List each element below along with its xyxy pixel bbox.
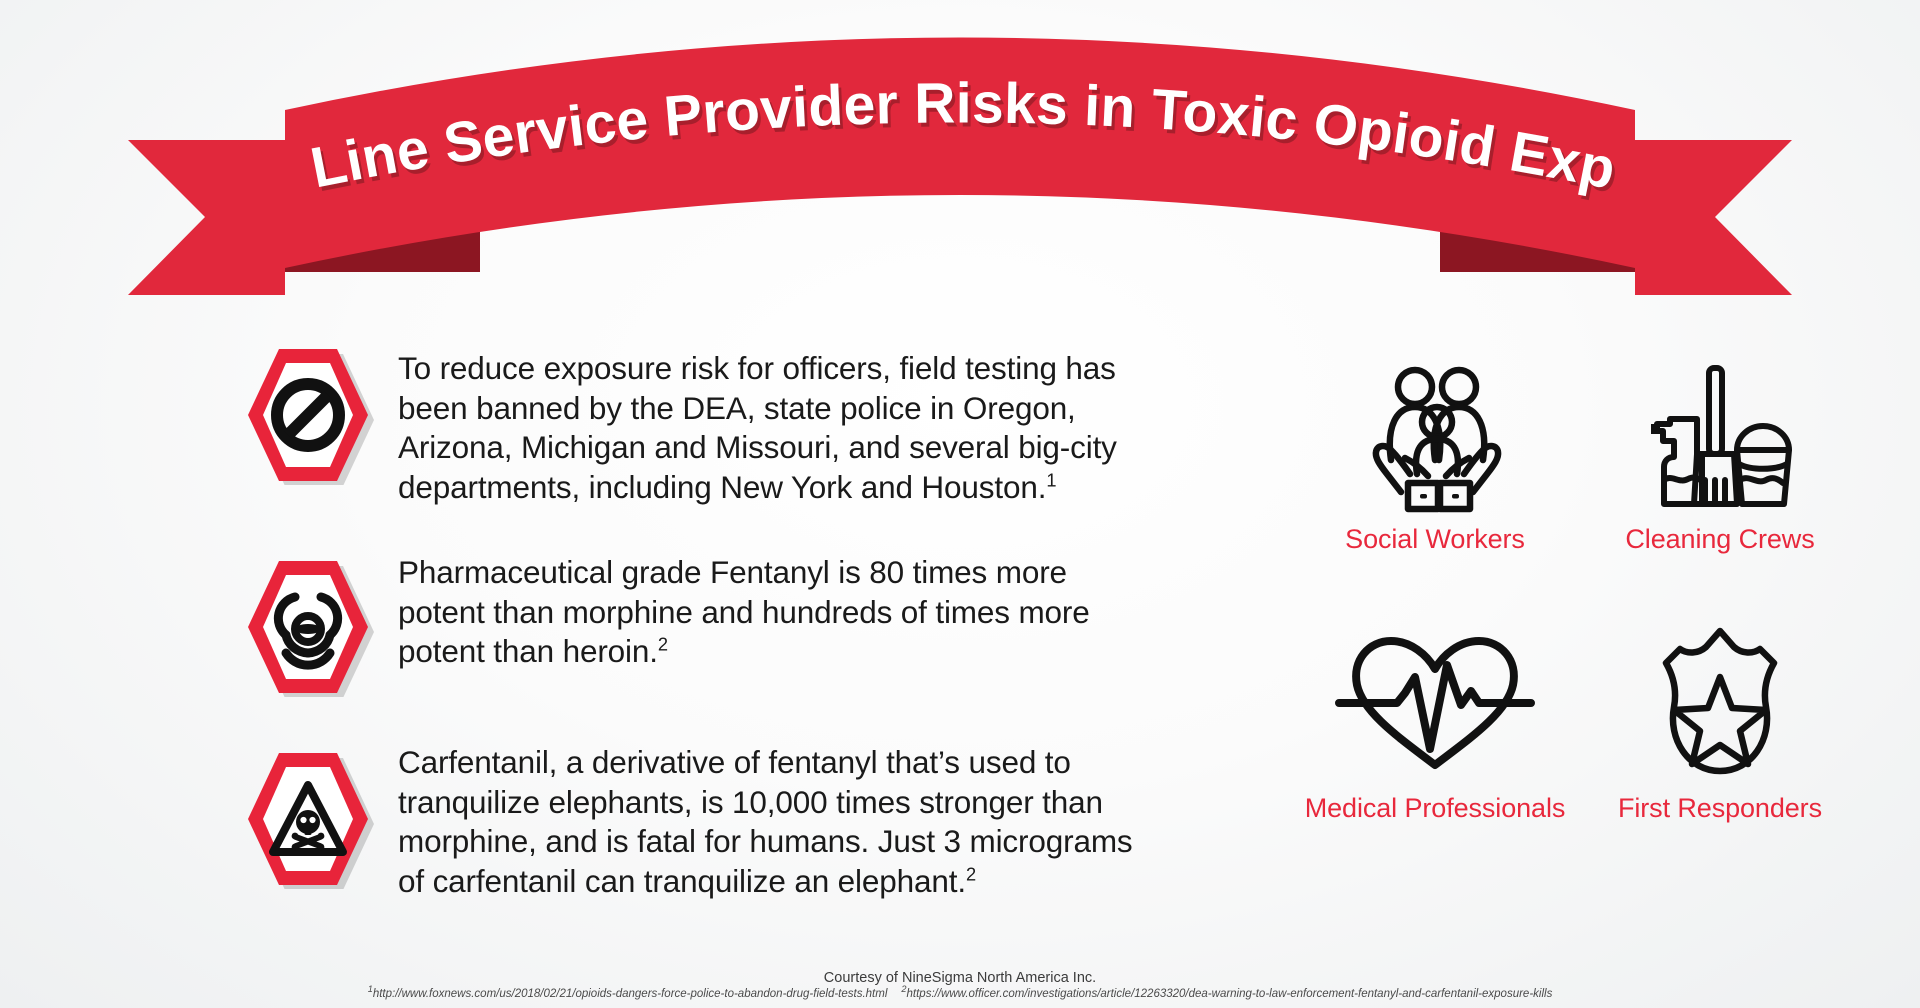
- toxic-warning-icon: [238, 747, 378, 889]
- fact-text: Carfentanil, a derivative of fentanyl th…: [390, 733, 1138, 901]
- banner-right-tail: [1635, 140, 1792, 295]
- facts-column: To reduce exposure risk for officers, fi…: [225, 345, 1185, 937]
- role-icon-cell: [1335, 627, 1535, 777]
- heart-pulse-icon: [1335, 627, 1535, 777]
- fact-icon-cell: [225, 339, 390, 485]
- source-2-url[interactable]: https://www.officer.com/investigations/a…: [907, 988, 1553, 1000]
- fact-item: To reduce exposure risk for officers, fi…: [225, 339, 1185, 507]
- hands-holding-family-icon: [1353, 364, 1518, 514]
- banner-graphic: Front Line Service Provider Risks in Tox…: [0, 0, 1920, 300]
- police-badge-shield-icon: [1650, 625, 1790, 777]
- fact-item: Pharmaceutical grade Fentanyl is 80 time…: [225, 543, 1185, 697]
- biohazard-icon: [238, 555, 378, 697]
- role-icon-cell: [1650, 627, 1790, 777]
- role-item-cleaning-crews: Cleaning Crews: [1580, 355, 1860, 555]
- fact-footnote-marker: 2: [658, 634, 668, 655]
- role-label: First Responders: [1618, 793, 1822, 824]
- courtesy-line: Courtesy of NineSigma North America Inc.: [0, 970, 1920, 986]
- role-label: Cleaning Crews: [1625, 524, 1814, 555]
- fact-body: Carfentanil, a derivative of fentanyl th…: [398, 744, 1133, 899]
- role-icon-cell: [1645, 355, 1795, 514]
- banner-left-tail: [128, 140, 285, 295]
- banner-header: Front Line Service Provider Risks in Tox…: [0, 0, 1920, 300]
- no-field-testing-icon: [238, 343, 378, 485]
- cleaning-supplies-icon: [1645, 362, 1795, 514]
- fact-icon-cell: [225, 543, 390, 697]
- role-item-social-workers: Social Workers: [1290, 355, 1580, 555]
- footer: Courtesy of NineSigma North America Inc.…: [0, 970, 1920, 1000]
- role-label: Social Workers: [1345, 524, 1525, 555]
- fact-icon-cell: [225, 733, 390, 889]
- fact-footnote-marker: 2: [966, 863, 976, 884]
- roles-grid: Social Workers: [1290, 355, 1860, 827]
- role-icon-cell: [1353, 355, 1518, 514]
- fact-footnote-marker: 1: [1046, 469, 1056, 490]
- fact-text: Pharmaceutical grade Fentanyl is 80 time…: [390, 543, 1138, 672]
- fact-body: Pharmaceutical grade Fentanyl is 80 time…: [398, 554, 1090, 669]
- fact-text: To reduce exposure risk for officers, fi…: [390, 339, 1138, 507]
- role-item-medical-professionals: Medical Professionals: [1290, 627, 1580, 827]
- role-item-first-responders: First Responders: [1580, 627, 1860, 827]
- sources-line: 1http://www.foxnews.com/us/2018/02/21/op…: [0, 988, 1920, 1000]
- fact-item: Carfentanil, a derivative of fentanyl th…: [225, 733, 1185, 901]
- fact-body: To reduce exposure risk for officers, fi…: [398, 350, 1117, 505]
- role-label: Medical Professionals: [1305, 793, 1566, 824]
- source-1-url[interactable]: http://www.foxnews.com/us/2018/02/21/opi…: [373, 988, 888, 1000]
